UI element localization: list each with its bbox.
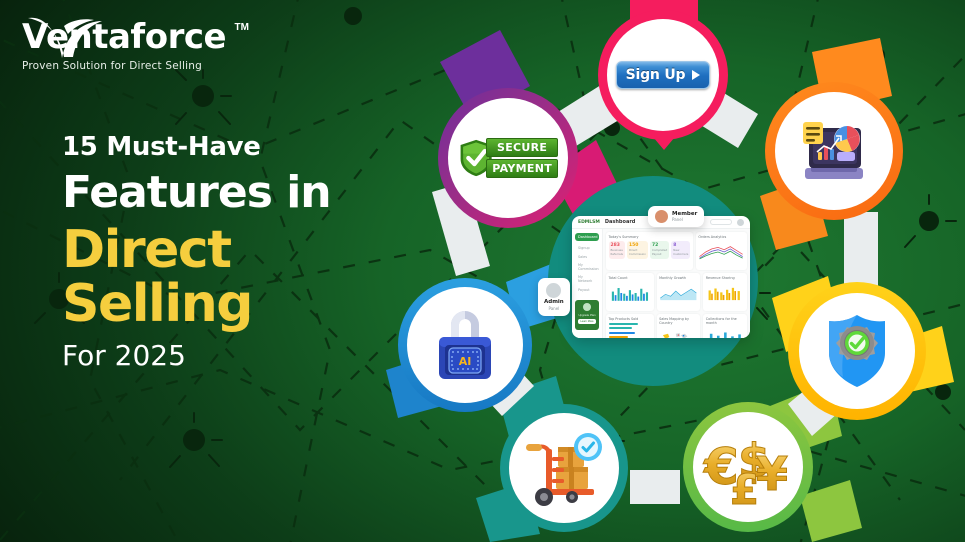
node-signup[interactable]: Sign Up (598, 10, 728, 140)
admin-avatar (546, 283, 561, 298)
dashboard-body: Dashboard Signup Sales My Commission My … (572, 229, 750, 338)
headline-line-3: Direct (62, 223, 402, 277)
chart-title-top-products: Top Products Sold (609, 317, 652, 321)
dashboard-main: Today's Summary 283 Business Referrals 1… (603, 229, 750, 338)
secure-payment-line1: SECURE (486, 138, 558, 157)
secure-payment-line2: PAYMENT (486, 159, 558, 178)
shield-gear-check-icon (813, 307, 901, 395)
chart-title-revenue: Revenue Sharing (706, 276, 745, 280)
admin-panel-chip[interactable]: Admin Panel (538, 278, 570, 316)
currency-pound: £ (730, 465, 759, 512)
dashboard-row-kpi: Today's Summary 283 Business Referrals 1… (606, 232, 747, 270)
admin-panel-title: Admin (544, 299, 564, 305)
sidebar-item-payout[interactable]: Payout (575, 286, 599, 294)
member-panel-chip[interactable]: Member Panel (648, 206, 704, 227)
analytics-dashboard-icon (791, 108, 877, 194)
dashboard-row-charts: Total Count (606, 273, 747, 311)
member-panel-subtitle: Panel (672, 217, 697, 222)
dashboard-row-bottom: Top Products Sold Sales Mapping by Count… (606, 314, 747, 338)
growth-area-chart (659, 282, 698, 304)
node-currency-inner: € $ ¥ £ (693, 412, 803, 522)
collections-bar-chart (706, 327, 745, 339)
member-avatar (655, 210, 668, 223)
node-shipping-inner (509, 413, 619, 523)
kpi-card-commission: 150 Direct Commission (627, 241, 648, 259)
kpi-card-payout: 72 Completed Payout (650, 241, 669, 259)
orders-line-chart (698, 241, 744, 263)
chart-title-collections: Collections for the month (706, 317, 745, 325)
sidebar-item-dashboard[interactable]: Dashboard (575, 233, 599, 241)
chart-title-total-count: Total Count (609, 276, 652, 280)
hand-truck-delivery-icon (520, 427, 608, 509)
dashboard-brand: EDMLSM (578, 220, 600, 225)
sidebar-item-signup[interactable]: Signup (575, 244, 599, 252)
dashboard-page-title: Dashboard (605, 219, 636, 225)
node-payment-inner: SECURE PAYMENT (448, 98, 568, 218)
promo-title: Upgrade Plan (578, 313, 596, 317)
headline-line-1: 15 Must-Have (62, 132, 402, 162)
kpi-card-customers: 8 New Customers (671, 241, 690, 259)
sidebar-item-network[interactable]: My Network (575, 273, 599, 285)
ai-chip-label: AI (459, 355, 472, 368)
dashboard-sidebar[interactable]: Dashboard Signup Sales My Commission My … (572, 229, 603, 338)
headline-line-2: Features in (62, 168, 402, 217)
node-ai-security[interactable]: AI (398, 278, 532, 412)
dashboard-search-box[interactable] (710, 219, 732, 225)
dashboard-preview-card[interactable]: EDMLSM Dashboard Dashboard Signup Sales … (572, 216, 750, 338)
chart-title-map: Sales Mapping by Country (659, 317, 698, 325)
node-signup-inner: Sign Up (607, 19, 719, 131)
ai-padlock-icon: AI (423, 301, 507, 389)
logo-tagline: Proven Solution for Direct Selling (22, 60, 232, 72)
kpi-section-title: Today's Summary (609, 235, 691, 239)
headline-line-5: For 2025 (62, 339, 402, 372)
promo-lock-icon (583, 303, 591, 311)
admin-panel-subtitle: Panel (548, 306, 559, 311)
logo-wordmark-wrap: Ventaforce TM (22, 20, 232, 54)
brand-logo[interactable]: Ventaforce TM Proven Solution for Direct… (22, 20, 232, 72)
poster-canvas: Ventaforce TM Proven Solution for Direct… (0, 0, 965, 542)
signup-button-label: Sign Up (626, 67, 686, 83)
kpi-card-referrals: 283 Business Referrals (609, 241, 625, 259)
play-triangle-icon (692, 70, 700, 80)
signup-button[interactable]: Sign Up (616, 61, 710, 89)
multi-currency-icon: € $ ¥ £ (700, 422, 796, 512)
headline-line-4: Selling (62, 277, 402, 331)
secure-payment-badge: SECURE PAYMENT (458, 135, 558, 181)
headline-block: 15 Must-Have Features in Direct Selling … (62, 132, 402, 372)
total-count-bar-chart (609, 282, 652, 304)
node-analytics-inner (775, 92, 893, 210)
promo-cta[interactable]: Learn More (578, 319, 596, 324)
sidebar-item-commission[interactable]: My Commission (575, 261, 599, 273)
node-currency[interactable]: € $ ¥ £ (683, 402, 813, 532)
revenue-bar-chart (706, 282, 745, 304)
node-shipping[interactable] (500, 404, 628, 532)
logo-trademark: TM (235, 22, 249, 33)
dashboard-avatar[interactable] (737, 219, 744, 226)
sidebar-item-sales[interactable]: Sales (575, 252, 599, 260)
chart-title-orders: Orders Analytics (698, 235, 744, 239)
leaf-swoosh-icon (24, 14, 104, 60)
sales-world-map (659, 327, 698, 339)
node-ai-inner: AI (407, 287, 523, 403)
currency-yen: ¥ (756, 447, 788, 501)
node-secure-payment[interactable]: SECURE PAYMENT (438, 88, 578, 228)
node-security[interactable] (788, 282, 926, 420)
feature-wheel-diagram: EDMLSM Dashboard Dashboard Signup Sales … (380, 0, 965, 542)
node-security-inner (799, 293, 915, 409)
node-analytics[interactable] (765, 82, 903, 220)
chart-title-growth: Monthly Growth (659, 276, 698, 280)
secure-payment-text: SECURE PAYMENT (486, 138, 558, 178)
